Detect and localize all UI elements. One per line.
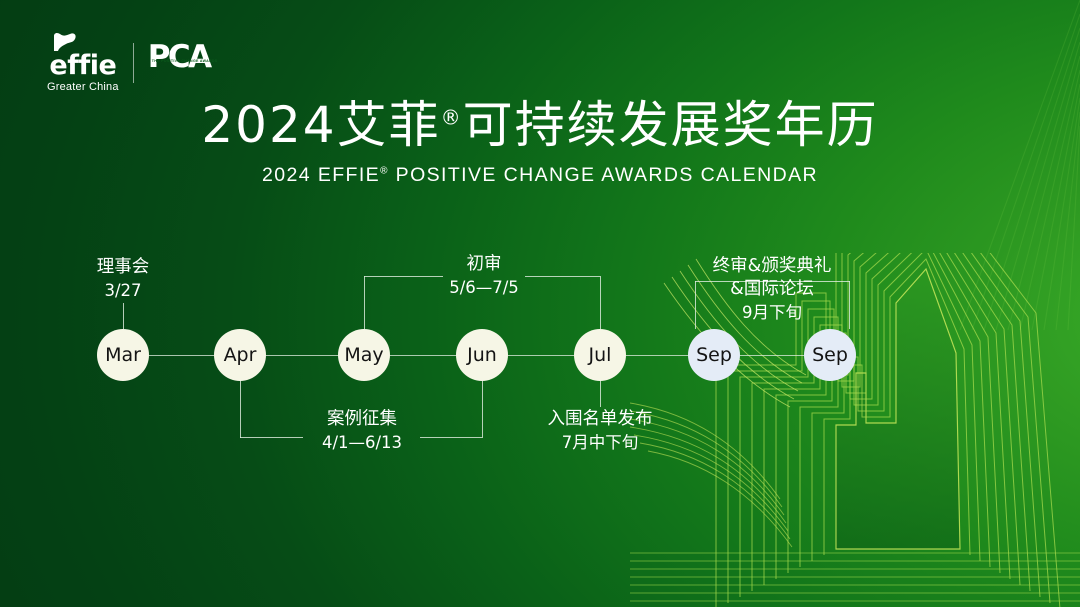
timeline-node-apr[interactable]: Apr: [214, 329, 266, 381]
milestone-shortlist-date: 7月中下旬: [548, 431, 653, 455]
timeline-node-sep-2-label: Sep: [812, 344, 848, 366]
connector-case-collection-right: [482, 381, 483, 438]
timeline-node-may-label: May: [344, 344, 383, 366]
milestone-case-collection-name: 案例征集: [322, 408, 402, 431]
milestone-shortlist: 入围名单发布 7月中下旬: [548, 408, 653, 455]
milestone-case-collection: 案例征集 4/1—6/13: [322, 408, 402, 455]
connector-preliminary-bar-right: [525, 276, 600, 277]
milestone-shortlist-name: 入围名单发布: [548, 408, 653, 431]
timeline-node-mar[interactable]: Mar: [97, 329, 149, 381]
milestone-board-meeting-date: 3/27: [97, 279, 150, 303]
milestone-board-meeting: 理事会 3/27: [97, 256, 150, 303]
connector-preliminary-left: [364, 276, 365, 329]
timeline: 理事会 3/27 案例征集 4/1—6/13 初审 5/6—7/5 入围名单发布…: [0, 0, 1080, 607]
timeline-node-jun-label: Jun: [467, 344, 497, 366]
connector-final-left: [695, 281, 696, 329]
timeline-node-apr-label: Apr: [224, 344, 257, 366]
timeline-node-jun[interactable]: Jun: [456, 329, 508, 381]
timeline-node-sep-1[interactable]: Sep: [688, 329, 740, 381]
timeline-node-jul[interactable]: Jul: [574, 329, 626, 381]
milestone-case-collection-date: 4/1—6/13: [322, 431, 402, 455]
connector-case-collection-left: [240, 381, 241, 438]
milestone-preliminary-review-name: 初审: [449, 253, 519, 276]
milestone-final-review: 终审&颁奖典礼 &国际论坛 9月下旬: [713, 255, 832, 325]
milestone-preliminary-review-date: 5/6—7/5: [449, 276, 519, 300]
timeline-node-may[interactable]: May: [338, 329, 390, 381]
connector-shortlist: [600, 381, 601, 407]
milestone-preliminary-review: 初审 5/6—7/5: [449, 253, 519, 300]
connector-case-collection-bar-left: [240, 437, 303, 438]
timeline-node-mar-label: Mar: [105, 344, 141, 366]
milestone-board-meeting-name: 理事会: [97, 256, 150, 279]
timeline-node-sep-1-label: Sep: [696, 344, 732, 366]
connector-preliminary-right: [600, 276, 601, 329]
milestone-final-review-name-line2: &国际论坛: [713, 278, 832, 301]
milestone-final-review-date: 9月下旬: [713, 301, 832, 325]
connector-final-right: [849, 281, 850, 329]
timeline-node-sep-2[interactable]: Sep: [804, 329, 856, 381]
milestone-final-review-name-line1: 终审&颁奖典礼: [713, 255, 832, 278]
connector-board-meeting: [123, 303, 124, 329]
connector-case-collection-bar-right: [420, 437, 482, 438]
connector-preliminary-bar-left: [364, 276, 443, 277]
timeline-node-jul-label: Jul: [589, 344, 612, 366]
slide-canvas: effie Greater China PCA THE POSITIVE CHA…: [0, 0, 1080, 607]
